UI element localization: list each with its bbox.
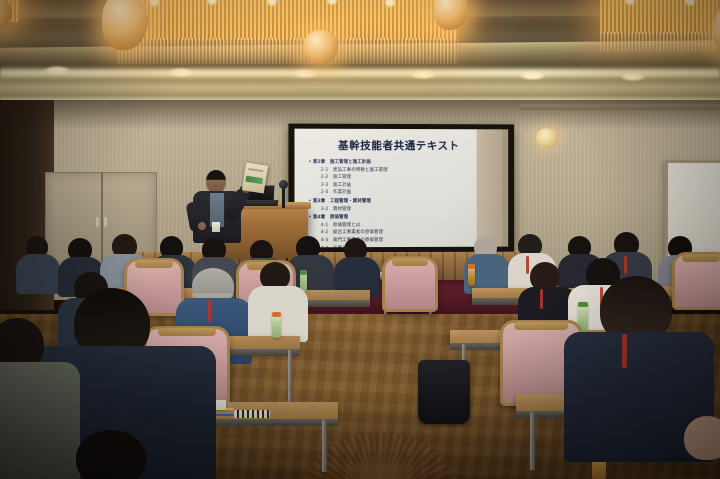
- chandelier-left: [0, 0, 20, 22]
- slide-item: 2-4 作業計画: [307, 189, 495, 197]
- table-leg: [288, 350, 292, 402]
- microphone-stand: [282, 186, 285, 208]
- projection-screen: 技能者 基幹技能者共通テキスト 第2章 施工管理と施工計画 2-1 建設工事の特…: [288, 124, 514, 253]
- cove-light-strip-upper: [0, 66, 720, 80]
- chandelier-bulb: [266, 0, 278, 7]
- lanyard: [526, 256, 529, 274]
- presenter-hand-lower: [198, 222, 206, 230]
- chandelier-bulb: [206, 0, 218, 6]
- shoulder-bag: [418, 360, 470, 424]
- chandelier-center: [118, 0, 458, 40]
- textbook-held: [242, 162, 268, 193]
- bottle-cap: [578, 302, 588, 307]
- slide-item: 第3章 工程管理・資材管理: [307, 197, 495, 206]
- bottle-cap: [300, 270, 307, 275]
- head: [76, 430, 146, 479]
- textbook-title-line: [248, 168, 263, 172]
- table-leg: [530, 412, 535, 470]
- torso: [0, 362, 80, 479]
- banquet-chair[interactable]: [672, 252, 720, 310]
- bottle-cap: [272, 312, 281, 317]
- presenter-head: [206, 170, 226, 193]
- chandelier-bulb: [384, 0, 396, 8]
- bottle-cap: [468, 264, 475, 269]
- downlight: [620, 72, 646, 81]
- chandelier-bulb: [624, 0, 636, 6]
- slide-title: 基幹技能者共通テキスト: [303, 138, 495, 153]
- slide-item: 2-1 建設工事の特徴と施工管理: [307, 166, 495, 174]
- lanyard: [622, 334, 627, 368]
- screen-unlit-margin: [477, 129, 509, 246]
- tea-bottle: [468, 264, 475, 286]
- slide-item: 第2章 施工管理と施工計画: [307, 158, 495, 167]
- downlight: [410, 70, 436, 79]
- downlight: [520, 71, 546, 80]
- lanyard: [540, 289, 543, 309]
- textbook-green-band: [245, 176, 263, 185]
- seminar-photo: 技能者 基幹技能者共通テキスト 第2章 施工管理と施工計画 2-1 建設工事の特…: [0, 0, 720, 479]
- downlight: [44, 66, 70, 75]
- chandelier-right: [600, 0, 720, 34]
- pencil-case: [234, 410, 270, 418]
- chandelier-crystal-fringe: [118, 38, 458, 64]
- chandelier-bulb: [684, 0, 696, 7]
- wall-sconce-light: [536, 128, 558, 148]
- projection-screen-surface: 技能者 基幹技能者共通テキスト 第2章 施工管理と施工計画 2-1 建設工事の特…: [294, 129, 502, 248]
- slide-item: 2-3 施工計画: [307, 182, 495, 190]
- head: [684, 416, 720, 460]
- presenter-name-badge: [212, 222, 220, 232]
- chandelier-bulb: [148, 0, 160, 8]
- slide-item: 4-4 工事と会計: [307, 244, 495, 247]
- lanyard: [208, 300, 211, 322]
- slide-item: 第4章 原価管理: [307, 213, 495, 222]
- torso: [16, 254, 60, 294]
- banquet-chair[interactable]: [382, 256, 438, 312]
- water-bottle: [272, 312, 281, 338]
- presentation-slide: 技能者 基幹技能者共通テキスト 第2章 施工管理と施工計画 2-1 建設工事の特…: [294, 129, 502, 248]
- slide-outline-list: 第2章 施工管理と施工計画 2-1 建設工事の特徴と施工管理 2-2 施工管理 …: [303, 158, 495, 248]
- chandelier-crystal-fringe: [600, 32, 720, 52]
- microphone-icon: [279, 180, 288, 189]
- downlight: [292, 69, 318, 78]
- slide-item: 2-2 施工管理: [307, 174, 495, 182]
- door-handle-right[interactable]: [104, 217, 107, 227]
- downlight: [168, 68, 194, 77]
- lanyard: [624, 256, 627, 274]
- chandelier-bulb: [326, 0, 338, 6]
- table-leg: [322, 420, 327, 472]
- door-handle-left[interactable]: [96, 217, 99, 227]
